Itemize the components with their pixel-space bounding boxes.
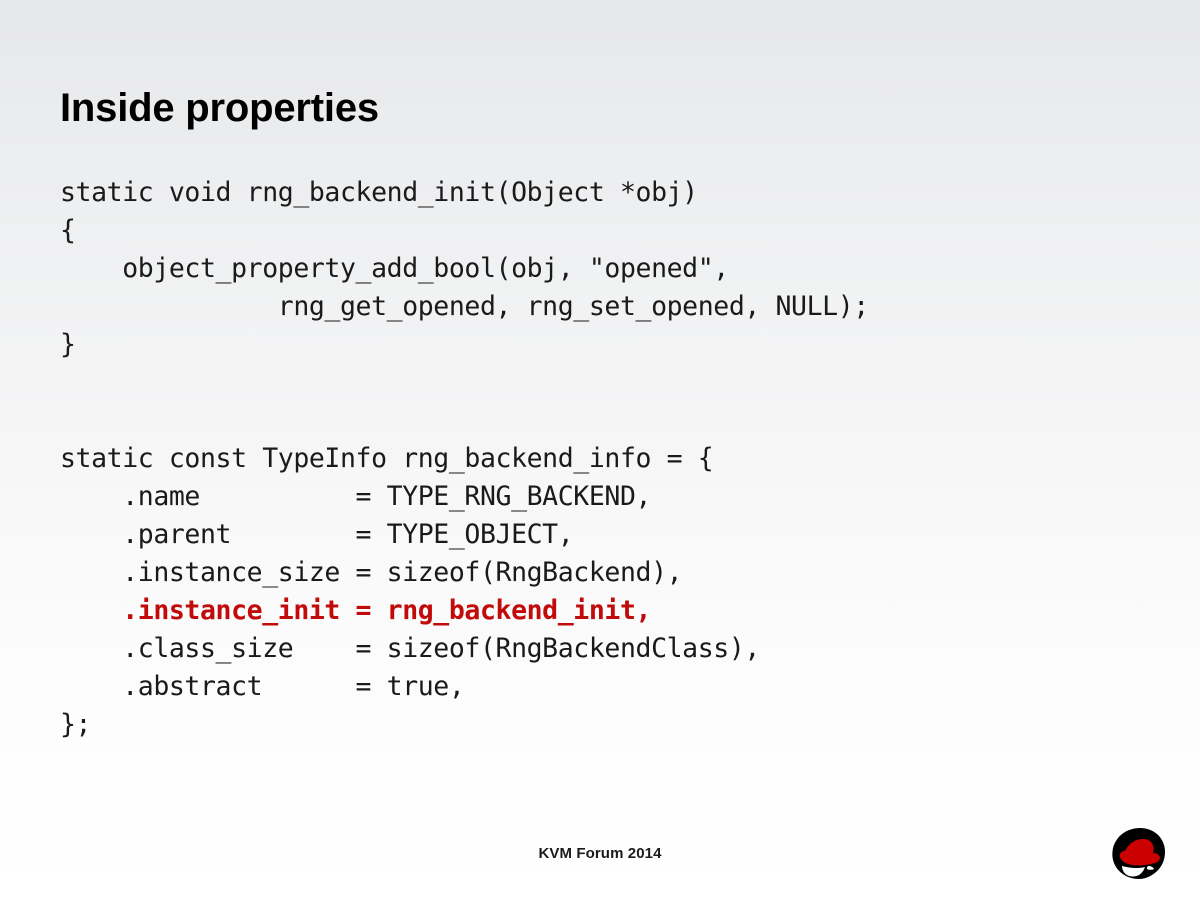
code-line-highlighted: .instance_init = rng_backend_init, <box>60 592 1150 630</box>
code-line: { <box>60 212 1150 250</box>
code-line: .abstract = true, <box>60 668 1150 706</box>
code-line: .name = TYPE_RNG_BACKEND, <box>60 478 1150 516</box>
code-line <box>60 364 1150 402</box>
page-title: Inside properties <box>60 86 379 130</box>
code-line: rng_get_opened, rng_set_opened, NULL); <box>60 288 1150 326</box>
code-line: }; <box>60 706 1150 744</box>
footer-label: KVM Forum 2014 <box>0 845 1200 862</box>
code-block: static void rng_backend_init(Object *obj… <box>60 174 1150 744</box>
code-line: .class_size = sizeof(RngBackendClass), <box>60 630 1150 668</box>
code-line: object_property_add_bool(obj, "opened", <box>60 250 1150 288</box>
code-line <box>60 402 1150 440</box>
code-line: .instance_size = sizeof(RngBackend), <box>60 554 1150 592</box>
code-line: static const TypeInfo rng_backend_info =… <box>60 440 1150 478</box>
red-hat-shadowman-logo <box>1108 826 1172 884</box>
code-line: static void rng_backend_init(Object *obj… <box>60 174 1150 212</box>
slide-canvas: Inside properties static void rng_backen… <box>0 0 1200 900</box>
code-line: .parent = TYPE_OBJECT, <box>60 516 1150 554</box>
code-line: } <box>60 326 1150 364</box>
